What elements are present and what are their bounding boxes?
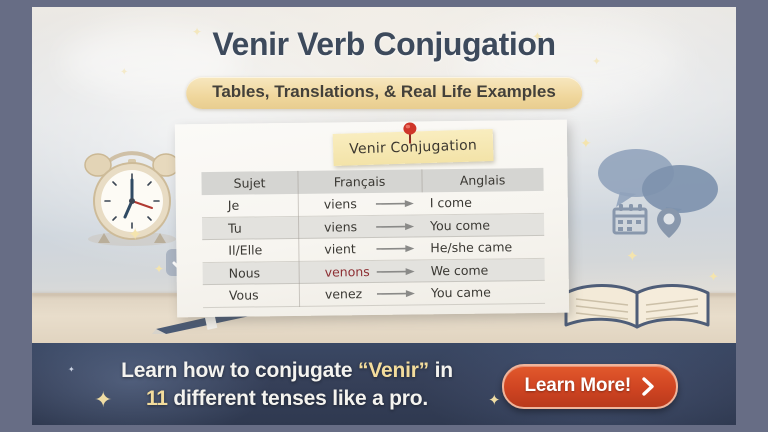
- calendar-icon: [612, 203, 648, 235]
- cta-line1-post: in: [429, 359, 453, 382]
- subtitle-text: Tables, Translations, & Real Life Exampl…: [212, 82, 556, 102]
- cta-line2-count: 11: [146, 387, 168, 410]
- sparkle-icon: ✦: [580, 135, 592, 152]
- column-header-francais: Français: [334, 173, 386, 189]
- cell-subject: Nous: [229, 265, 261, 280]
- cell-subject: Je: [228, 198, 240, 213]
- chevron-right-icon: [641, 377, 656, 396]
- cta-line2-post: different tenses like a pro.: [168, 387, 428, 410]
- cell-english: I come: [430, 195, 472, 211]
- conjugation-card: Venir Conjugation Sujet Français Anglais…: [175, 120, 569, 318]
- right-arrow-icon: [376, 200, 416, 208]
- cta-line1-gold: “Venir”: [358, 359, 429, 382]
- right-arrow-icon: [377, 290, 417, 298]
- column-header-anglais: Anglais: [460, 172, 506, 188]
- column-header-sujet: Sujet: [233, 175, 265, 190]
- cell-english: You come: [430, 217, 490, 233]
- cell-french: viens: [324, 219, 357, 234]
- cta-line-1: Learn how to conjugate “Venir” in: [72, 357, 502, 385]
- cta-text: Learn how to conjugate “Venir” in 11 dif…: [72, 357, 502, 412]
- table-row[interactable]: Vous venez You came: [203, 281, 545, 308]
- learn-more-button[interactable]: Learn More!: [502, 364, 678, 409]
- right-arrow-icon: [377, 267, 417, 275]
- red-pushpin-icon: [402, 122, 418, 144]
- cta-line-2: 11 different tenses like a pro.: [72, 385, 502, 413]
- cell-subject: Il/Elle: [228, 243, 262, 258]
- cell-french: viens: [324, 196, 357, 211]
- right-arrow-icon: [376, 245, 416, 253]
- cell-english: You came: [431, 285, 491, 301]
- cell-french: venez: [325, 286, 362, 301]
- learn-more-label: Learn More!: [524, 375, 631, 397]
- page-title: Venir Verb Conjugation: [32, 26, 736, 63]
- cell-french: venons: [325, 264, 370, 280]
- cell-subject: Tu: [228, 220, 242, 235]
- subtitle-banner: Tables, Translations, & Real Life Exampl…: [186, 77, 582, 109]
- right-arrow-icon: [376, 222, 416, 230]
- illustration-canvas: Venir Verb Conjugation Tables, Translati…: [32, 7, 736, 425]
- cell-english: He/she came: [430, 240, 512, 256]
- cell-english: We come: [431, 262, 489, 278]
- conjugation-table: Sujet Français Anglais Je viens I come T…: [201, 168, 545, 308]
- open-book-icon: [562, 279, 712, 335]
- cell-subject: Vous: [229, 288, 259, 303]
- cta-line1-pre: Learn how to conjugate: [121, 359, 358, 382]
- cell-french: vient: [324, 241, 356, 256]
- alarm-clock-icon: [80, 135, 184, 247]
- sparkle-icon: ✦: [626, 247, 639, 265]
- sparkle-icon: ✦: [154, 262, 164, 276]
- cta-banner: ✦ ✦ ✦ Learn how to conjugate “Venir” in …: [32, 343, 736, 425]
- location-pin-icon: [656, 207, 682, 239]
- outer-frame: Venir Verb Conjugation Tables, Translati…: [0, 0, 768, 432]
